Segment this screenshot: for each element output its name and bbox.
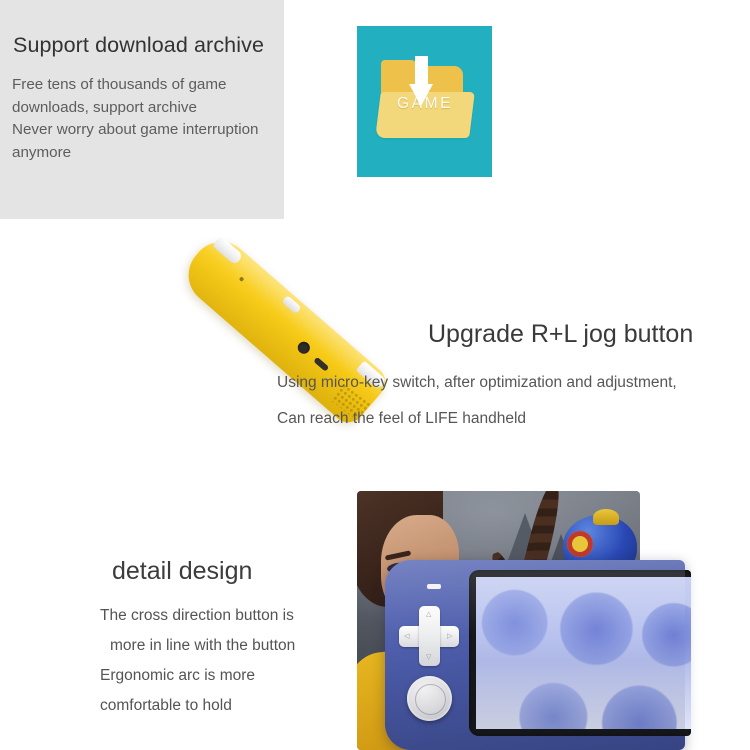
detail-design-line-4: comfortable to hold xyxy=(100,691,345,721)
console-screen xyxy=(469,570,691,736)
dpad-left-icon: ◁ xyxy=(404,633,409,640)
console-screen-wallpaper xyxy=(476,577,691,729)
headphone-jack-port xyxy=(295,339,312,356)
shoulder-button-left xyxy=(212,236,243,265)
arrow-head xyxy=(409,84,433,106)
dpad-vertical-arm xyxy=(419,606,440,666)
status-led xyxy=(427,584,441,589)
jog-button-line-2: Can reach the feel of LIFE handheld xyxy=(277,410,526,428)
usb-port xyxy=(313,357,329,372)
power-button xyxy=(281,295,301,314)
download-folder-icon: GAME xyxy=(357,26,492,177)
detail-design-line-2: more in line with the button xyxy=(100,631,345,661)
jog-button-title: Upgrade R+L jog button xyxy=(428,320,693,349)
detail-design-line-3: Ergonomic arc is more xyxy=(100,661,345,691)
product-feature-page: Support download archive Free tens of th… xyxy=(0,0,750,750)
download-archive-line-4: anymore xyxy=(12,142,284,165)
dpad-horizontal-arm xyxy=(399,626,459,647)
download-archive-line-3: Never worry about game interruption xyxy=(12,119,284,142)
yellow-handheld-console xyxy=(178,232,440,480)
jog-button-line-1: Using micro-key switch, after optimizati… xyxy=(277,374,677,392)
download-archive-title: Support download archive xyxy=(13,33,264,58)
blue-handheld-console: △ ▽ ◁ ▷ xyxy=(385,560,685,750)
download-arrow-icon xyxy=(409,56,433,108)
download-archive-line-2: downloads, support archive xyxy=(12,97,284,120)
yellow-console-body xyxy=(176,230,392,429)
microphone-hole-icon xyxy=(239,276,245,282)
detail-design-description: The cross direction button is more in li… xyxy=(100,601,345,721)
analog-stick xyxy=(407,676,452,721)
artwork-helmet-emblem xyxy=(567,531,593,557)
d-pad: △ ▽ ◁ ▷ xyxy=(399,606,459,666)
detail-design-title: detail design xyxy=(112,557,252,586)
download-archive-description: Free tens of thousands of game downloads… xyxy=(12,74,284,164)
artwork-helmet-crest xyxy=(593,509,619,525)
detail-design-line-1: The cross direction button is xyxy=(100,601,345,631)
arrow-shaft xyxy=(415,56,428,86)
download-archive-line-1: Free tens of thousands of game xyxy=(12,74,284,97)
dpad-up-icon: △ xyxy=(426,611,431,618)
dpad-down-icon: ▽ xyxy=(426,654,431,661)
dpad-right-icon: ▷ xyxy=(447,633,452,640)
